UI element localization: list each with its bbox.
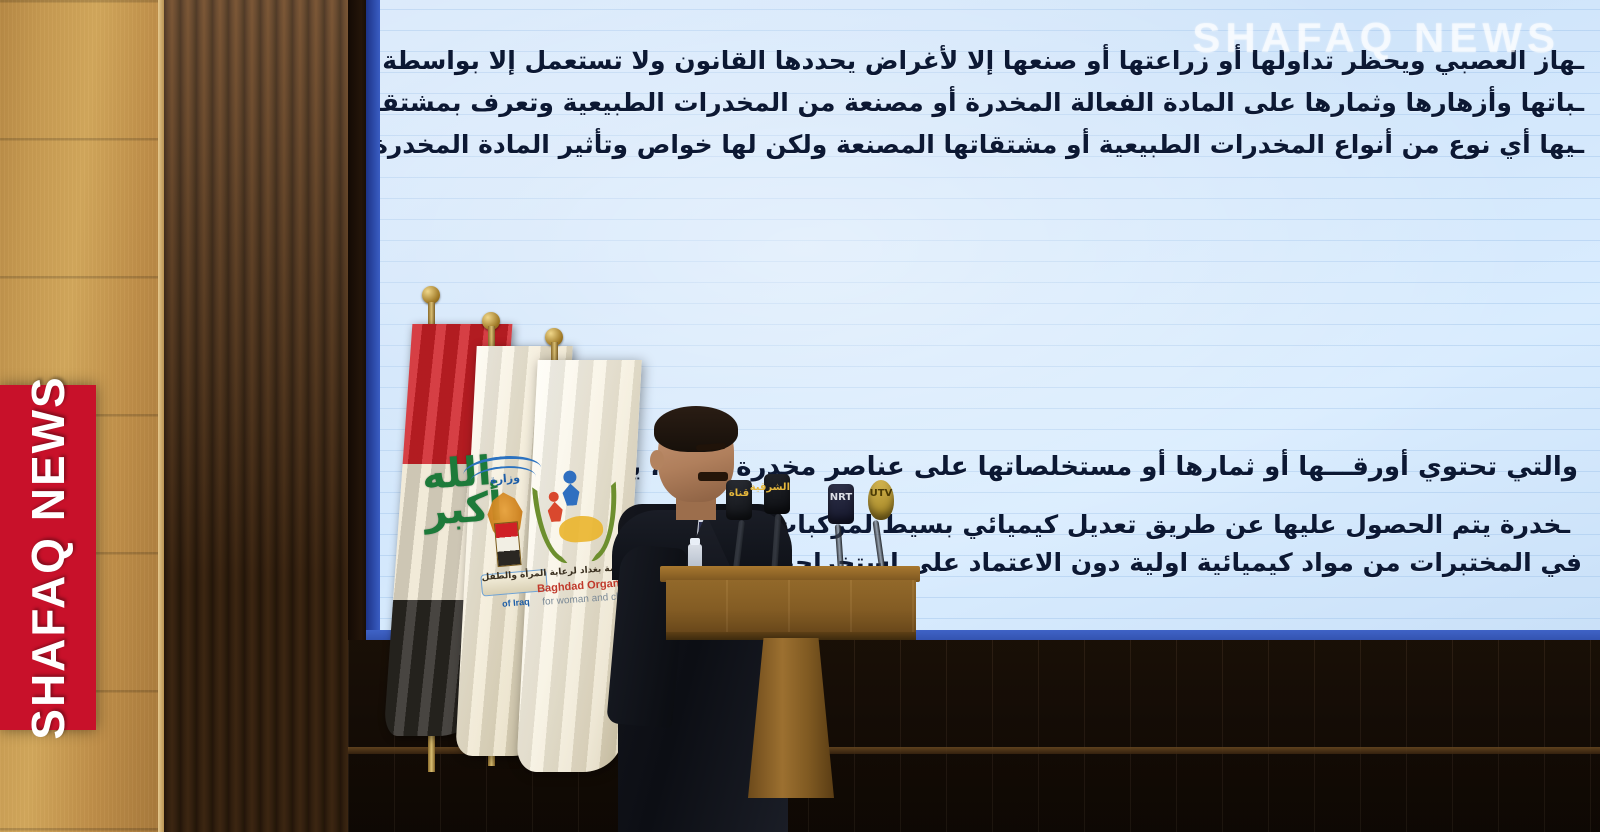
podium-stem bbox=[748, 638, 834, 798]
press-conference-photo: يؤثر على الجهاز العصبي ـهاز العصبي ويحظر… bbox=[0, 0, 1600, 832]
blue-figure-head-icon bbox=[563, 470, 577, 484]
shafaq-news-banner-text: SHAFAQ NEWS bbox=[0, 385, 96, 730]
shafaq-news-banner: SHAFAQ NEWS bbox=[0, 385, 96, 730]
microphone-head-icon: NRT bbox=[828, 484, 854, 524]
screen-watermark: SHAFAQ NEWS bbox=[1192, 14, 1560, 62]
microphone-head-icon: الشرقية bbox=[764, 474, 790, 514]
blue-figure-body-icon bbox=[562, 483, 580, 506]
microphone-logo-3: NRT bbox=[828, 493, 854, 503]
microphone-logo-1: قناة bbox=[726, 489, 752, 499]
shield-icon bbox=[494, 521, 522, 567]
slide-line-2: ـباتها وأزهارها وثمارها على المادة الفعا… bbox=[376, 90, 1584, 115]
speaker-ear bbox=[650, 450, 664, 470]
screen-left-border bbox=[366, 0, 380, 636]
microphone-head-icon: UTV bbox=[868, 480, 894, 520]
microphone-logo-2: الشرقية bbox=[764, 483, 790, 493]
microphone-head-icon: قناة bbox=[726, 480, 752, 520]
ribbed-wood-wall-panel bbox=[164, 0, 350, 832]
microphone-logo-4: UTV bbox=[868, 489, 894, 499]
podium bbox=[660, 566, 920, 832]
slide-line-3: ـيها أي نوع من أنواع المخدرات الطبيعية أ… bbox=[376, 132, 1584, 157]
podium-front-panel bbox=[666, 580, 916, 634]
